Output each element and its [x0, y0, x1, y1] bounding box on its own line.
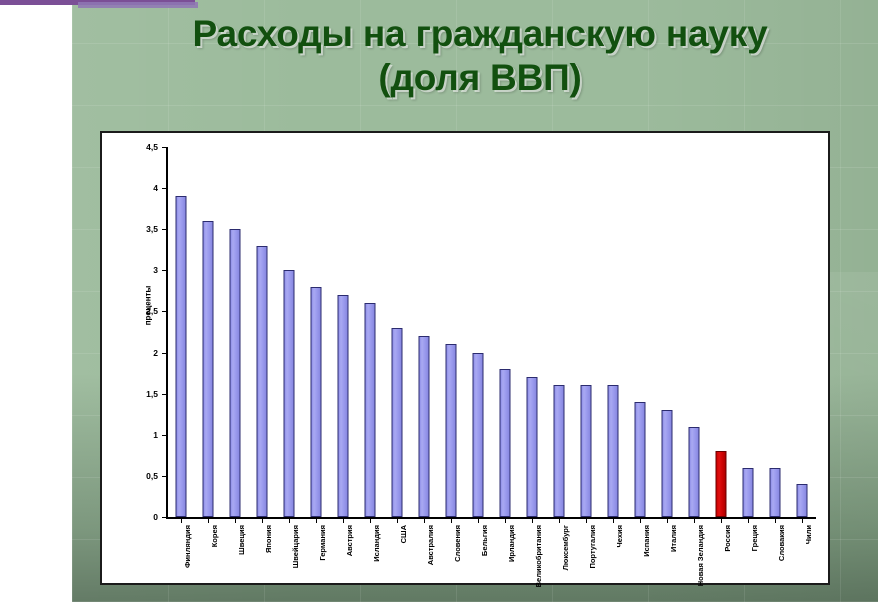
bar-slot [789, 147, 816, 517]
chart-bar[interactable] [581, 385, 592, 517]
x-axis-tick-label: Бельгия [481, 525, 489, 556]
chart-bar[interactable] [743, 468, 754, 517]
chart-bar[interactable] [364, 303, 375, 517]
x-axis-tick-mark [316, 518, 317, 523]
x-axis-tick-label: Россия [724, 525, 732, 552]
x-axis-tick-label: Словакия [778, 525, 786, 561]
x-axis-tick-label: Чили [805, 525, 813, 544]
y-axis-tick-label: 3 [120, 265, 158, 275]
x-axis-tick-label: Люксембург [562, 525, 570, 570]
chart-bar[interactable] [500, 369, 511, 517]
y-axis-tick-label: 0,5 [120, 471, 158, 481]
chart-bar[interactable] [554, 385, 565, 517]
bar-slot [194, 147, 221, 517]
chart-bar[interactable] [770, 468, 781, 517]
chart-bar[interactable] [391, 328, 402, 517]
bar-slot [519, 147, 546, 517]
x-axis-tick-mark [424, 518, 425, 523]
bar-slot [600, 147, 627, 517]
x-axis-tick-mark [181, 518, 182, 523]
accent-bar-secondary [78, 2, 198, 8]
bar-slot [437, 147, 464, 517]
bar-slot [410, 147, 437, 517]
slide-canvas: Расходы на гражданскую науку (доля ВВП) … [0, 0, 878, 602]
x-axis-tick-mark [559, 518, 560, 523]
x-axis-tick-label: Новая Зеландия [697, 525, 705, 586]
x-axis-tick-label: Великобритания [535, 525, 543, 587]
x-axis-line [166, 517, 816, 519]
x-axis-tick-label: Япония [265, 525, 273, 553]
x-axis-tick-mark [775, 518, 776, 523]
bar-slot [221, 147, 248, 517]
chart-bar[interactable] [445, 344, 456, 517]
bar-slot [356, 147, 383, 517]
x-axis-tick-mark [235, 518, 236, 523]
chart-bar[interactable] [202, 221, 213, 517]
x-axis-tick-label: Корея [211, 525, 219, 547]
bar-slot [546, 147, 573, 517]
x-axis-tick-label: Словения [454, 525, 462, 562]
y-axis-tick-label: 1 [120, 430, 158, 440]
x-axis-tick-label: США [400, 525, 408, 543]
chart-bar[interactable] [256, 246, 267, 517]
x-axis-tick-mark [748, 518, 749, 523]
x-axis-tick-mark [586, 518, 587, 523]
chart-bar[interactable] [283, 270, 294, 517]
y-axis-tick-label: 1,5 [120, 389, 158, 399]
x-axis-tick-mark [505, 518, 506, 523]
x-axis-tick-label: Италия [670, 525, 678, 552]
bar-slot [681, 147, 708, 517]
chart-bar[interactable] [310, 287, 321, 517]
slide-title: Расходы на гражданскую науку (доля ВВП) [110, 12, 850, 99]
x-axis-tick-label: Австрия [346, 525, 354, 556]
bar-slot [735, 147, 762, 517]
bar-slot [654, 147, 681, 517]
x-axis-tick-mark [613, 518, 614, 523]
y-axis-tick-label: 2 [120, 348, 158, 358]
bar-slot [464, 147, 491, 517]
bar-slot [708, 147, 735, 517]
y-axis-tick-label: 3,5 [120, 224, 158, 234]
chart-plot-wrapper: проценты 00,511,522,533,544,5 ФинляндияК… [102, 133, 828, 583]
chart-bar[interactable] [175, 196, 186, 517]
chart-bar[interactable] [797, 484, 808, 517]
bar-slot [627, 147, 654, 517]
chart-bar[interactable] [229, 229, 240, 517]
chart-bar[interactable] [337, 295, 348, 517]
x-axis-tick-mark [721, 518, 722, 523]
x-axis-tick-label: Германия [319, 525, 327, 561]
x-axis-tick-label: Португалия [589, 525, 597, 569]
bar-slot [762, 147, 789, 517]
x-axis-tick-label: Испания [643, 525, 651, 557]
chart-bar[interactable] [635, 402, 646, 517]
x-axis-tick-mark [640, 518, 641, 523]
x-axis-tick-mark [451, 518, 452, 523]
x-axis-tick-label: Австралия [427, 525, 435, 565]
chart-frame: проценты 00,511,522,533,544,5 ФинляндияК… [100, 131, 830, 585]
chart-bar[interactable] [689, 427, 700, 517]
x-axis-tick-mark [343, 518, 344, 523]
x-axis-tick-mark [370, 518, 371, 523]
chart-bar[interactable] [662, 410, 673, 517]
x-axis-tick-mark [532, 518, 533, 523]
bar-slot [573, 147, 600, 517]
bars-container [167, 147, 816, 517]
x-axis-tick-label: Швейцария [292, 525, 300, 568]
bar-slot [302, 147, 329, 517]
y-axis-tick-label: 2,5 [120, 306, 158, 316]
x-axis-tick-mark [694, 518, 695, 523]
x-axis-tick-mark [397, 518, 398, 523]
y-axis-tick-label: 4 [120, 183, 158, 193]
chart-bar[interactable] [716, 451, 727, 517]
x-axis-tick-mark [667, 518, 668, 523]
x-axis-tick-mark [289, 518, 290, 523]
bar-slot [248, 147, 275, 517]
y-axis-tick-label: 0 [120, 512, 158, 522]
chart-bar[interactable] [608, 385, 619, 517]
bar-slot [167, 147, 194, 517]
chart-bar[interactable] [527, 377, 538, 517]
x-axis-tick-label: Чехия [616, 525, 624, 548]
bar-slot [383, 147, 410, 517]
chart-bar[interactable] [472, 353, 483, 517]
x-axis-tick-mark [208, 518, 209, 523]
x-axis-tick-label: Исландия [373, 525, 381, 562]
x-axis-tick-label: Ирландия [508, 525, 516, 562]
x-axis-tick-label: Греция [751, 525, 759, 551]
x-axis-tick-mark [478, 518, 479, 523]
x-axis-tick-label: Финляндия [184, 525, 192, 568]
chart-bar[interactable] [418, 336, 429, 517]
bar-slot [275, 147, 302, 517]
bar-slot [492, 147, 519, 517]
y-axis-tick-label: 4,5 [120, 142, 158, 152]
slide-title-line-2: (доля ВВП) [110, 56, 850, 100]
slide-title-line-1: Расходы на гражданскую науку [110, 12, 850, 56]
x-axis-tick-label: Швеция [238, 525, 246, 555]
x-axis-tick-mark [802, 518, 803, 523]
x-axis-tick-mark [262, 518, 263, 523]
bar-slot [329, 147, 356, 517]
